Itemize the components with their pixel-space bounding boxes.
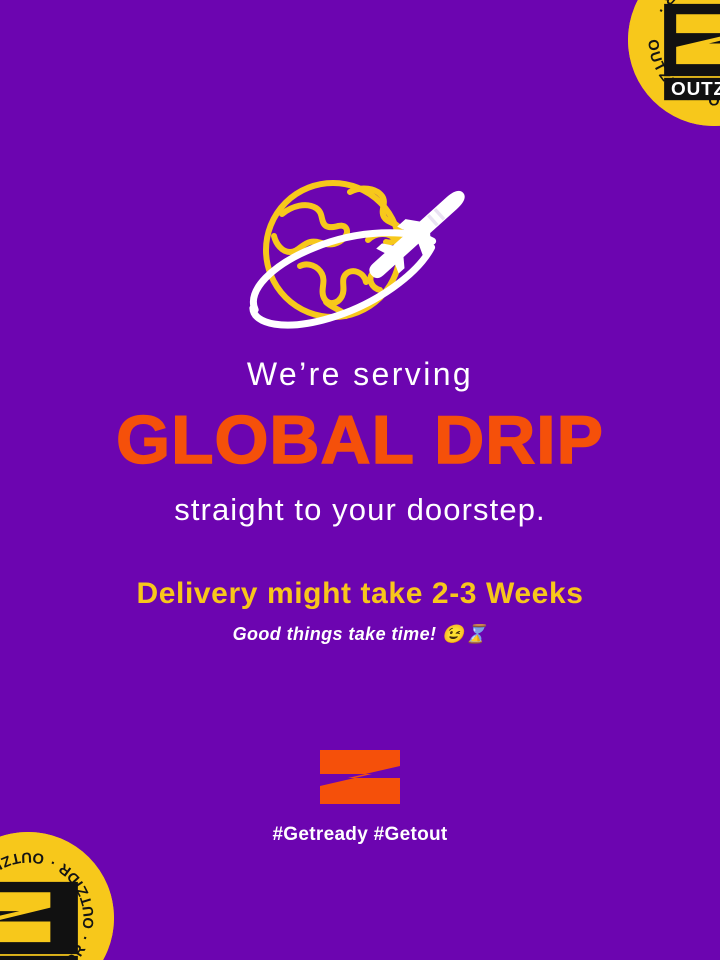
copy-block: We’re serving GLOBAL DRIP straight to yo… (0, 358, 720, 644)
outzidr-seal-top-right: OUTZIDR · OUTZIDR · OUTZIDR · OUTZIDR · … (628, 0, 720, 126)
page-title: GLOBAL DRIP (0, 406, 720, 474)
reassurance-text: Good things take time! 😉⌛ (0, 625, 720, 644)
eyebrow-text: We’re serving (0, 358, 720, 392)
svg-text:OUTZIDR: OUTZIDR (671, 79, 720, 100)
subhead-text: straight to your doorstep. (0, 494, 720, 527)
outzidr-seal-bottom-left: OUTZIDR · OUTZIDR · OUTZIDR · OUTZIDR · … (0, 832, 114, 960)
poster-canvas: OUTZIDR · OUTZIDR · OUTZIDR · OUTZIDR · … (0, 0, 720, 960)
outzidr-z-logo (318, 748, 402, 806)
delivery-note: Delivery might take 2-3 Weeks (0, 578, 720, 610)
globe-airplane-illustration (230, 170, 490, 345)
